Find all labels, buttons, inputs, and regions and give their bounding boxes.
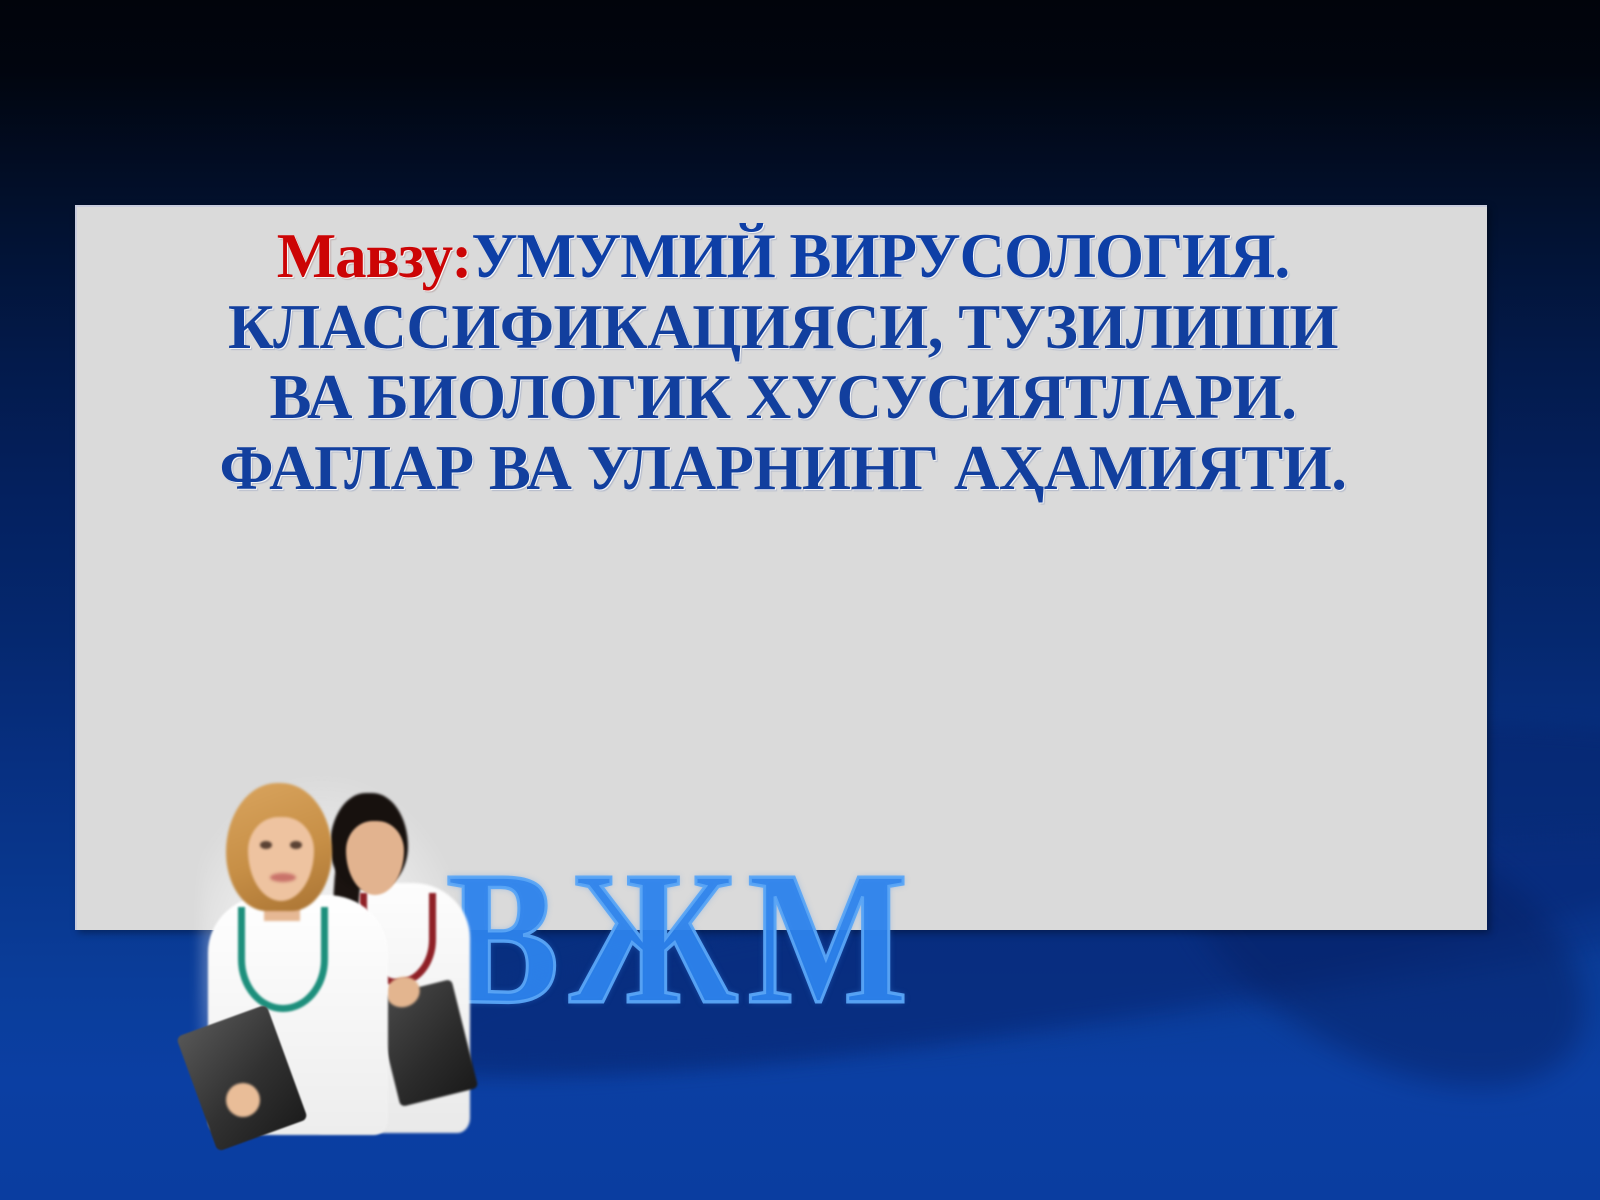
- back-doctor-clipboard: [374, 979, 479, 1107]
- front-doctor-clipboard: [176, 1004, 308, 1151]
- title-line-1: Мавзу:УМУМИЙ ВИРУСОЛОГИЯ.: [97, 221, 1469, 292]
- front-doctor-hand: [226, 1083, 260, 1117]
- title-line-2: КЛАССИФИКАЦИЯСИ, ТУЗИЛИШИ: [97, 292, 1469, 363]
- slide-title-block: Мавзу:УМУМИЙ ВИРУСОЛОГИЯ. КЛАССИФИКАЦИЯС…: [97, 221, 1469, 503]
- title-line-3: ВА БИОЛОГИК ХУСУСИЯТЛАРИ.: [97, 362, 1469, 433]
- title-line-1-text: УМУМИЙ ВИРУСОЛОГИЯ.: [471, 221, 1289, 291]
- topic-label: Мавзу:: [277, 221, 472, 291]
- front-doctor-coat: [208, 895, 388, 1135]
- back-doctor-hand: [382, 972, 424, 1012]
- presentation-slide: Мавзу:УМУМИЙ ВИРУСОЛОГИЯ. КЛАССИФИКАЦИЯС…: [0, 0, 1600, 1200]
- title-line-4: ФАГЛАР ВА УЛАРНИНГ АҲАМИЯТИ.: [97, 433, 1469, 504]
- slide-content-panel: Мавзу:УМУМИЙ ВИРУСОЛОГИЯ. КЛАССИФИКАЦИЯС…: [75, 205, 1487, 930]
